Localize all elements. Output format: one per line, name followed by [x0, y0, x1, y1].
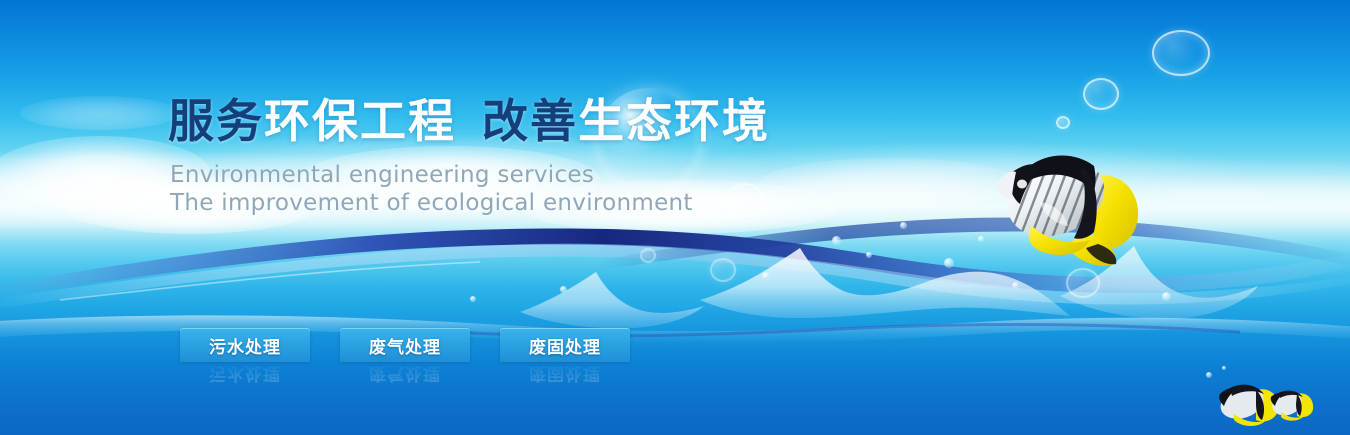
subtitle-line-2: The improvement of ecological environmen… [170, 190, 693, 216]
service-tab-wastewater[interactable]: 污水处理 [180, 328, 310, 362]
subtitle-line-1: Environmental engineering services [170, 162, 594, 188]
service-tab-wastewater-reflection: 污水处理 [180, 362, 310, 388]
headline-part2-light: 生态环境 [578, 94, 770, 148]
headline-part2-dark: 改善 [482, 94, 578, 148]
page-title: 服务环保工程改善生态环境 [168, 98, 770, 144]
service-tab-waste-gas-wrap: 废气处理 废气处理 [340, 328, 470, 388]
hero-banner: 服务环保工程改善生态环境 Environmental engineering s… [0, 0, 1350, 435]
service-tab-solid-waste-wrap: 废固处理 废固处理 [500, 328, 630, 388]
headline-part1-light: 环保工程 [264, 94, 456, 148]
service-tab-solid-waste-reflection: 废固处理 [500, 362, 630, 388]
service-tab-row: 污水处理 污水处理 废气处理 废气处理 废固处理 废固处理 [180, 328, 630, 388]
service-tab-solid-waste[interactable]: 废固处理 [500, 328, 630, 362]
service-tab-wastewater-wrap: 污水处理 污水处理 [180, 328, 310, 388]
service-tab-waste-gas-reflection: 废气处理 [340, 362, 470, 388]
headline-part1-dark: 服务 [168, 94, 264, 148]
service-tab-waste-gas[interactable]: 废气处理 [340, 328, 470, 362]
